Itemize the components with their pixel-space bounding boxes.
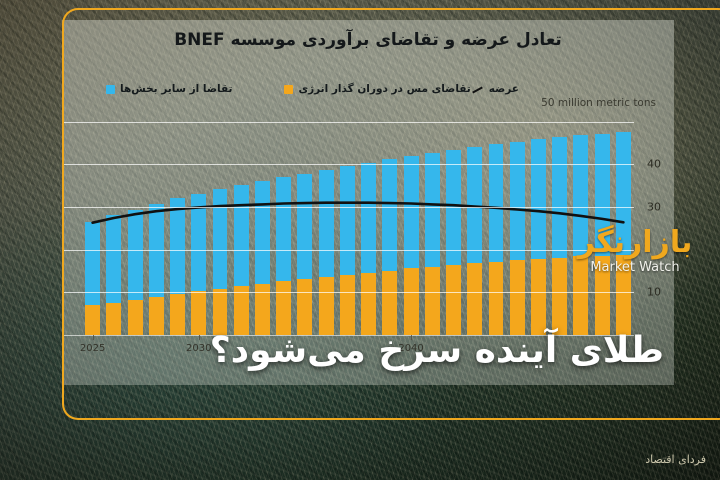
supply-line xyxy=(82,113,634,335)
legend-line-marker xyxy=(471,85,484,94)
gridline-40 xyxy=(62,164,634,165)
poster-stage: تعادل عرضه و تقاضای برآوردی موسسه BNEF ت… xyxy=(0,0,720,480)
unit-label: 50 million metric tons xyxy=(541,97,656,109)
legend-swatch xyxy=(284,85,293,94)
supply-line-path xyxy=(93,203,624,223)
gridline-10 xyxy=(62,292,634,293)
y-tick-label-40: 40 xyxy=(647,158,661,171)
legend-label: تقاضا از سایر بخش‌ها xyxy=(120,83,232,95)
legend-label: عرضه xyxy=(489,83,519,95)
gridline-50 xyxy=(62,122,634,123)
headline: طلای آینده سرخ می‌شود؟ xyxy=(62,330,674,371)
y-tick-label-10: 10 xyxy=(647,286,661,299)
plot-area: 50 million metric tons 10304020252030204… xyxy=(82,113,634,335)
legend-item-0[interactable]: تقاضا از سایر بخش‌ها xyxy=(106,83,232,95)
watermark: بازارنگر Market Watch xyxy=(560,228,710,275)
legend-swatch xyxy=(106,85,115,94)
legend-item-2[interactable]: عرضه xyxy=(471,83,519,95)
watermark-en: Market Watch xyxy=(560,260,710,275)
gridline-20 xyxy=(62,250,634,251)
legend-label: تقاضای مس در دوران گذار انرژی xyxy=(298,83,470,95)
legend-item-1[interactable]: تقاضای مس در دوران گذار انرژی xyxy=(284,83,470,95)
watermark-fa: بازارنگر xyxy=(560,228,710,258)
y-tick-label-30: 30 xyxy=(647,200,661,213)
chart-title: تعادل عرضه و تقاضای برآوردی موسسه BNEF xyxy=(62,30,674,50)
gridline-30 xyxy=(62,207,634,208)
brand-logo: فردای اقتصاد xyxy=(645,453,706,466)
